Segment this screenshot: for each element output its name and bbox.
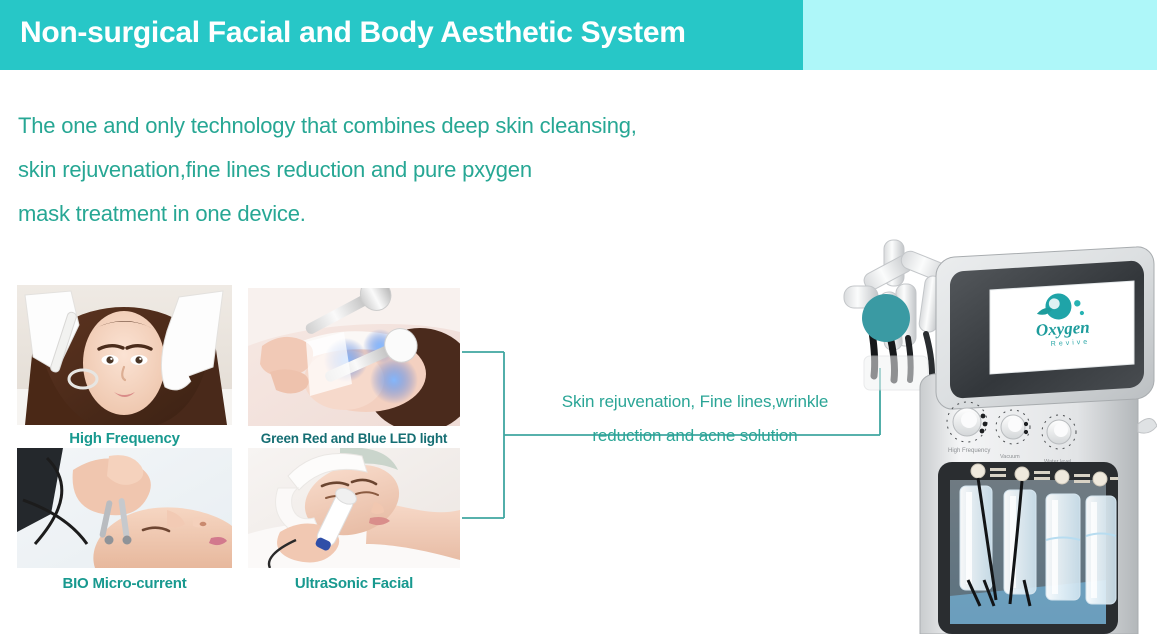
callout-line-2: reduction and acne solution (510, 419, 880, 453)
knob-label-vacuum: Vacuum (1000, 454, 1020, 460)
intro-paragraph: The one and only technology that combine… (18, 104, 818, 236)
knob-label-high-frequency: High Frequency (948, 448, 990, 454)
page-title: Non-surgical Facial and Body Aesthetic S… (20, 16, 790, 50)
intro-line-2: skin rejuvenation,fine lines reduction a… (18, 148, 818, 192)
logo-primary: Oxygen (1035, 318, 1090, 340)
screen-head: Oxygen Revive (936, 247, 1154, 409)
intro-line-1: The one and only technology that combine… (18, 104, 818, 148)
feature-card-high-frequency: High Frequency (17, 285, 232, 450)
photo-caption: UltraSonic Facial (248, 575, 460, 592)
bottle (1046, 494, 1080, 600)
accent-circle (862, 294, 910, 342)
intro-line-3: mask treatment in one device. (18, 192, 818, 236)
photo-ultrasonic-facial (248, 448, 460, 568)
photo-caption: High Frequency (17, 430, 232, 447)
photo-caption: BIO Micro-current (17, 575, 232, 592)
photo-led-light (248, 288, 460, 426)
photo-bio-microcurrent (17, 448, 232, 568)
product-banner: Non-surgical Facial and Body Aesthetic S… (0, 0, 1157, 634)
bottle-chamber (938, 462, 1118, 634)
photo-high-frequency (17, 285, 232, 425)
callout-text: Skin rejuvenation, Fine lines,wrinkle re… (510, 385, 880, 453)
feature-card-bio-microcurrent: BIO Micro-current (17, 448, 232, 596)
callout-line-1: Skin rejuvenation, Fine lines,wrinkle (510, 385, 880, 419)
photo-caption: Green Red and Blue LED light (248, 431, 460, 446)
feature-card-led-light: Green Red and Blue LED light (248, 288, 460, 450)
feature-card-ultrasonic-facial: UltraSonic Facial (248, 448, 460, 596)
device-illustration: Oxygen Revive (838, 228, 1157, 634)
bottle (1086, 496, 1116, 604)
